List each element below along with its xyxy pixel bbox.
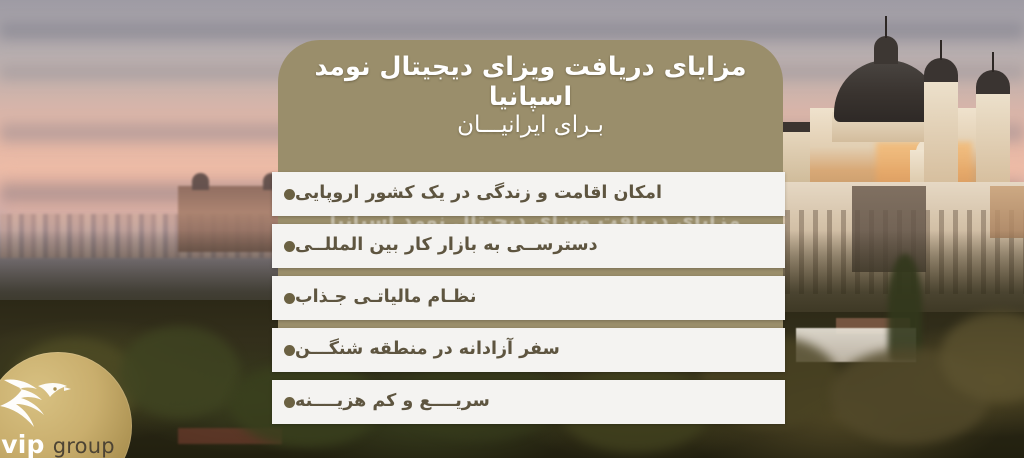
- dome-lantern: [874, 36, 898, 64]
- list-item[interactable]: سریــــع و کم هزیــــنه: [272, 380, 785, 424]
- tower-spire: [992, 52, 994, 72]
- list-item-label: سریــــع و کم هزیــــنه: [295, 393, 490, 411]
- dome-spire: [885, 16, 887, 38]
- bell-tower: [924, 82, 958, 194]
- bullet-dot-icon: [284, 397, 295, 408]
- banner-canvas: مزایای دریافت ویزای دیجیتال نومد اسپانیا…: [0, 0, 1024, 458]
- page-title: مزایای دریافت ویزای دیجیتال نومد اسپانیا: [278, 52, 783, 112]
- list-item-label: امکان اقامت و زندگی در یک کشور اروپایی: [295, 185, 662, 203]
- list-item[interactable]: نظـام مالیاتـی جـذاب: [272, 276, 785, 320]
- logo-wordmark: vip group: [0, 430, 132, 458]
- bullet-dot-icon: [284, 189, 295, 200]
- list-item[interactable]: سفر آزادانه در منطقه شنگـــن: [272, 328, 785, 372]
- benefits-list: امکان اقامت و زندگی در یک کشور اروپایی د…: [272, 172, 785, 424]
- bullet-dot-icon: [284, 293, 295, 304]
- tree-canopy: [120, 326, 240, 418]
- list-item-label: دسترســی به بازار کار بین المللــی: [295, 237, 598, 255]
- logo-name-secondary: group: [53, 434, 115, 458]
- page-subtitle: بـرای ایرانیـــان: [278, 112, 783, 138]
- logo-name-primary: vip: [1, 430, 44, 458]
- list-item-label: نظـام مالیاتـی جـذاب: [295, 289, 476, 307]
- list-item-label: سفر آزادانه در منطقه شنگـــن: [295, 341, 560, 359]
- tower-spire: [940, 40, 942, 60]
- falcon-bird-icon: [0, 368, 72, 430]
- cypress-tree: [888, 254, 922, 362]
- bell-tower: [976, 94, 1010, 194]
- list-item[interactable]: دسترســی به بازار کار بین المللــی: [272, 224, 785, 268]
- bullet-dot-icon: [284, 345, 295, 356]
- list-item[interactable]: امکان اقامت و زندگی در یک کشور اروپایی: [272, 172, 785, 216]
- bullet-dot-icon: [284, 241, 295, 252]
